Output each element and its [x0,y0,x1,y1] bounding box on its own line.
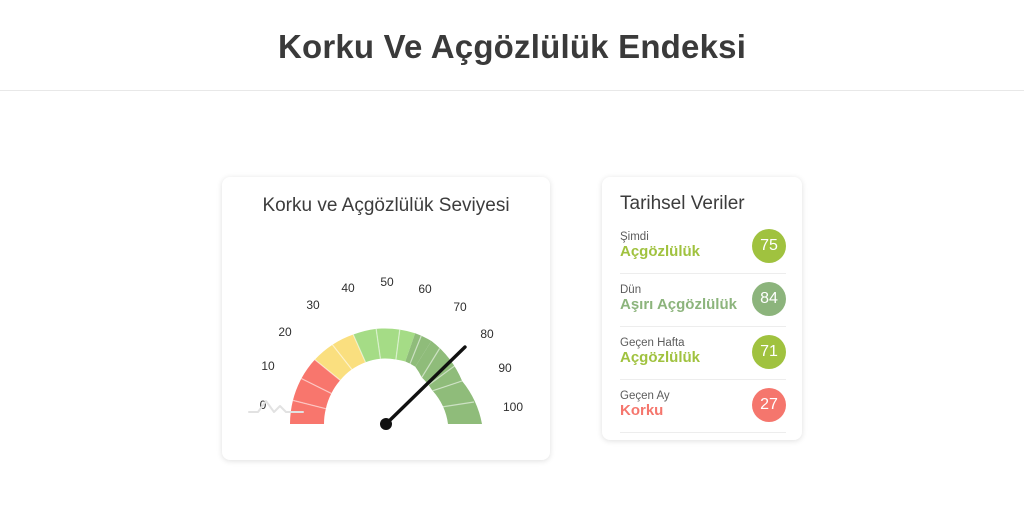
gauge-tick-70: 70 [453,300,467,314]
historical-row-texts: Geçen Hafta Açgözlülük [620,337,700,367]
mountain-wave-watermark-icon [248,396,304,418]
historical-row-yesterday[interactable]: Dün Aşırı Açgözlülük 84 [620,274,786,327]
historical-row-last-week[interactable]: Geçen Hafta Açgözlülük 71 [620,327,786,380]
main-content: Korku ve Açgözlülük Seviyesi [0,91,1024,460]
historical-card-title: Tarihsel Veriler [620,193,786,215]
gauge-tick-20: 20 [278,325,292,339]
historical-row-now[interactable]: Şimdi Açgözlülük 75 [620,221,786,274]
gauge-tick-50: 50 [380,275,394,289]
historical-sentiment-label: Açgözlülük [620,350,700,367]
gauge-tick-90: 90 [498,361,512,375]
historical-sentiment-label: Korku [620,403,670,420]
historical-data-card: Tarihsel Veriler Şimdi Açgözlülük 75 Dün… [602,177,802,440]
gauge-tick-80: 80 [480,327,494,341]
gauge-card-title: Korku ve Açgözlülük Seviyesi [222,195,550,217]
gauge-bands [290,328,482,424]
historical-row-texts: Geçen Ay Korku [620,390,670,420]
historical-sentiment-label: Aşırı Açgözlülük [620,297,737,314]
historical-value-badge: 71 [752,335,786,369]
gauge-tick-10: 10 [261,359,275,373]
gauge-tick-100: 100 [503,400,523,414]
gauge-tick-40: 40 [341,281,355,295]
historical-value-badge: 27 [752,388,786,422]
historical-row-texts: Dün Aşırı Açgözlülük [620,284,737,314]
gauge-tick-30: 30 [306,298,320,312]
historical-row-last-month[interactable]: Geçen Ay Korku 27 [620,380,786,433]
gauge-tick-60: 60 [418,282,432,296]
historical-sentiment-label: Açgözlülük [620,244,700,261]
historical-row-texts: Şimdi Açgözlülük [620,231,700,261]
historical-value-badge: 84 [752,282,786,316]
gauge-chart: 0 10 20 30 40 50 60 70 80 90 100 [222,219,550,434]
page-header: Korku Ve Açgözlülük Endeksi [0,0,1024,91]
page-title: Korku Ve Açgözlülük Endeksi [278,24,746,66]
historical-value-badge: 75 [752,229,786,263]
gauge-card: Korku ve Açgözlülük Seviyesi [222,177,550,460]
